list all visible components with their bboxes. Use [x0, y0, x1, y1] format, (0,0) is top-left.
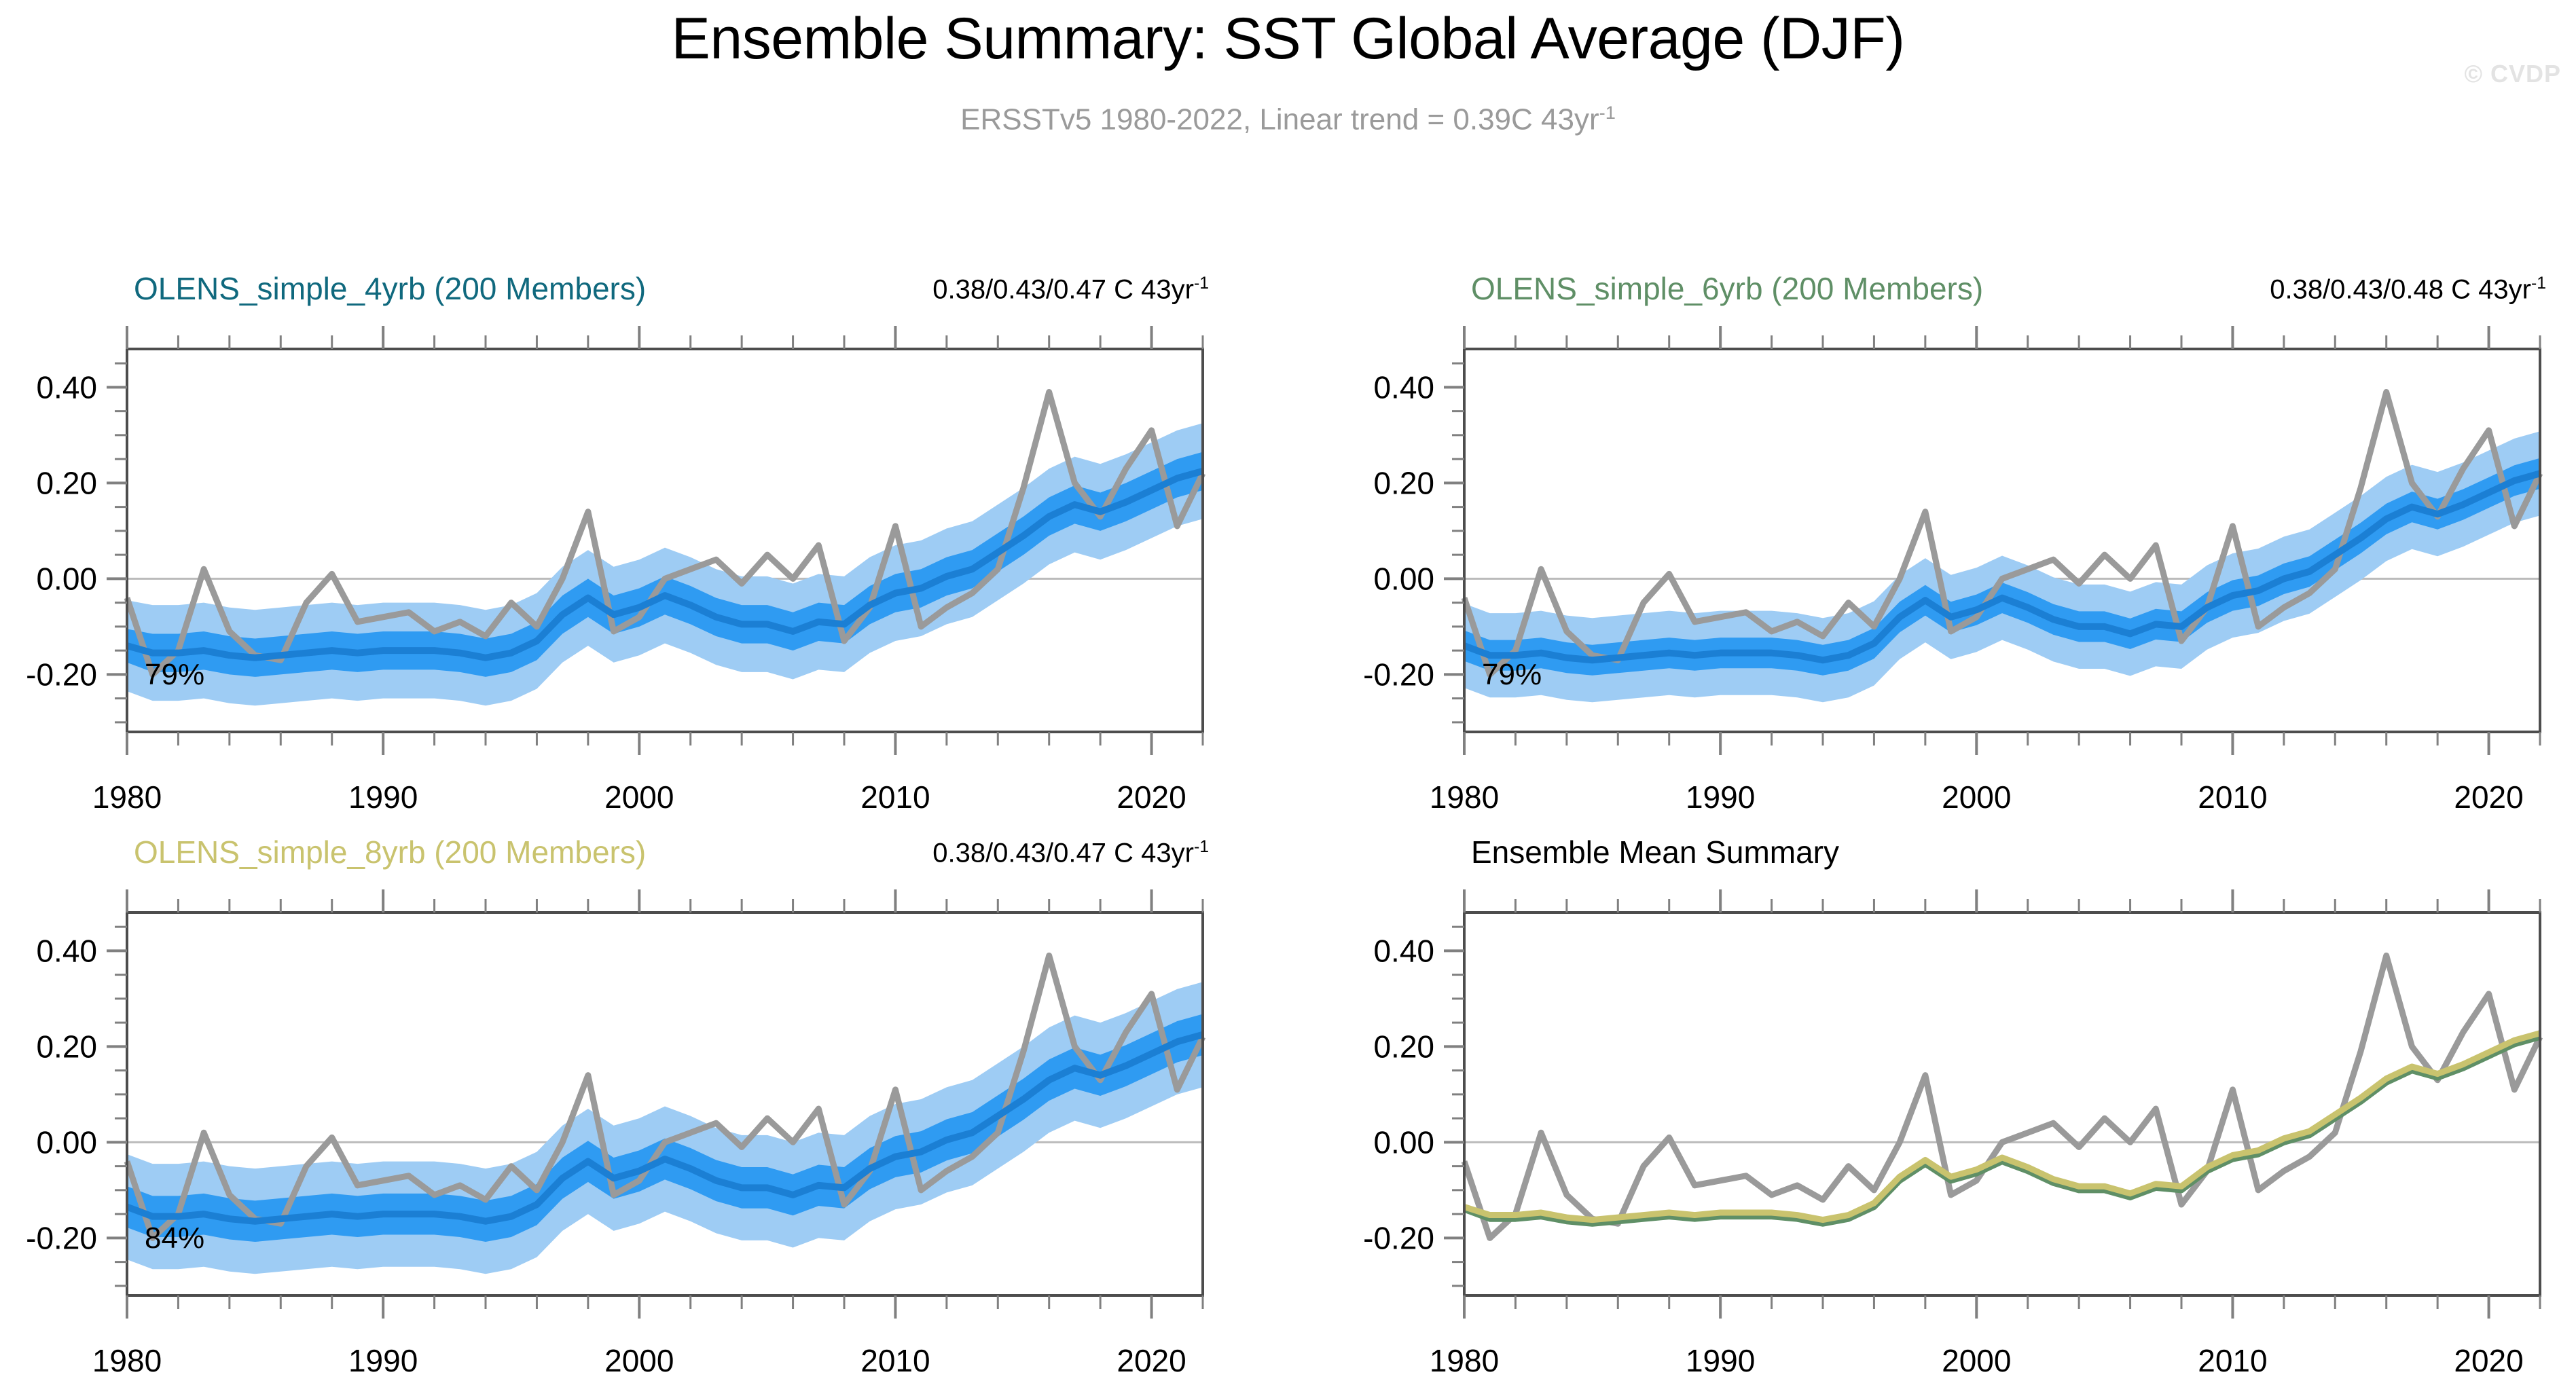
y-tick-label: 0.00	[1373, 561, 1434, 596]
x-tick-label: 2000	[604, 779, 674, 815]
plot-area-olens-4yrb: 0.400.200.00-0.201980199020002010202079%	[0, 0, 2576, 1381]
x-tick-label: 2020	[2454, 779, 2523, 815]
y-tick-label: 0.40	[36, 933, 97, 968]
x-tick-label: 1990	[1686, 1343, 1755, 1378]
panel-olens-4yrb: OLENS_simple_4yrb (200 Members)0.38/0.43…	[0, 0, 2576, 1381]
y-tick-label: 0.00	[36, 1124, 97, 1160]
plot-area-ensemble-mean-summary: 0.400.200.00-0.2019801990200020102020	[0, 0, 2576, 1381]
observation-line	[1464, 955, 2540, 1238]
percent-within-range-label: 84%	[145, 1221, 204, 1255]
band-5-95-olens-8yrb	[127, 982, 1203, 1274]
band-5-95-olens-6yrb	[1464, 431, 2540, 702]
x-tick-label: 1990	[1686, 779, 1755, 815]
x-tick-label: 2020	[2454, 1343, 2523, 1378]
y-tick-label: 0.00	[1373, 1124, 1434, 1160]
y-tick-label: -0.20	[26, 657, 97, 692]
observation-line	[127, 955, 1203, 1238]
page-title: Ensemble Summary: SST Global Average (DJ…	[0, 5, 2576, 73]
plot-area-olens-6yrb: 0.400.200.00-0.201980199020002010202079%	[0, 0, 2576, 1381]
panel-trend-olens-6yrb: 0.38/0.43/0.48 C 43yr-1	[0, 274, 2546, 305]
panel-title-olens-4yrb: OLENS_simple_4yrb (200 Members)	[134, 270, 646, 307]
y-tick-label: 0.20	[1373, 1029, 1434, 1064]
band-25-75-olens-6yrb	[1464, 458, 2540, 676]
chart-page: Ensemble Summary: SST Global Average (DJ…	[0, 0, 2576, 1381]
plot-frame	[1464, 913, 2540, 1295]
x-tick-label: 2010	[2198, 779, 2267, 815]
plot-frame	[127, 913, 1203, 1295]
x-tick-label: 2010	[860, 1343, 930, 1378]
observation-line	[1464, 392, 2540, 674]
panel-trend-olens-4yrb: 0.38/0.43/0.47 C 43yr-1	[0, 274, 1209, 305]
x-tick-label: 2020	[1117, 1343, 1186, 1378]
x-tick-label: 2020	[1117, 779, 1186, 815]
page-subtitle-text: ERSSTv5 1980-2022, Linear trend = 0.39C …	[960, 103, 1599, 136]
y-tick-label: 0.20	[1373, 465, 1434, 500]
y-tick-label: -0.20	[1363, 657, 1434, 692]
percent-within-range-label: 79%	[1482, 658, 1542, 691]
x-tick-label: 1980	[1430, 1343, 1499, 1378]
x-tick-label: 1990	[348, 1343, 418, 1378]
percent-within-range-label: 79%	[145, 658, 204, 691]
panel-title-olens-6yrb: OLENS_simple_6yrb (200 Members)	[1471, 270, 1983, 307]
observation-line	[127, 392, 1203, 674]
x-tick-label: 2000	[1942, 779, 2011, 815]
ensemble-mean-line	[127, 471, 1203, 658]
ensemble-mean-line	[127, 1035, 1203, 1221]
y-tick-label: 0.00	[36, 561, 97, 596]
panel-olens-6yrb: OLENS_simple_6yrb (200 Members)0.38/0.43…	[0, 0, 2576, 1381]
mean-line-olens_simple_6yrb	[1464, 1037, 2540, 1223]
band-5-95-olens-4yrb	[127, 423, 1203, 705]
ensemble-mean-line	[1464, 473, 2540, 660]
band-25-75-olens-4yrb	[127, 452, 1203, 677]
mean-line-olens_simple_4yrb	[1464, 1035, 2540, 1221]
cvdp-watermark: © CVDP	[2464, 60, 2561, 88]
plot-frame	[127, 349, 1203, 732]
y-tick-label: 0.40	[1373, 369, 1434, 405]
y-tick-label: 0.40	[1373, 933, 1434, 968]
x-tick-label: 1990	[348, 779, 418, 815]
x-tick-label: 2010	[860, 779, 930, 815]
band-25-75-olens-8yrb	[127, 1014, 1203, 1242]
x-tick-label: 1980	[92, 1343, 162, 1378]
panel-title-olens-8yrb: OLENS_simple_8yrb (200 Members)	[134, 834, 646, 870]
panel-title-ensemble-mean-summary: Ensemble Mean Summary	[1471, 834, 1839, 870]
panel-ensemble-mean-summary: Ensemble Mean Summary0.400.200.00-0.2019…	[0, 0, 2576, 1381]
plot-area-olens-8yrb: 0.400.200.00-0.201980199020002010202084%	[0, 0, 2576, 1381]
x-tick-label: 2000	[604, 1343, 674, 1378]
y-tick-label: -0.20	[1363, 1220, 1434, 1255]
x-tick-label: 2000	[1942, 1343, 2011, 1378]
panel-olens-8yrb: OLENS_simple_8yrb (200 Members)0.38/0.43…	[0, 0, 2576, 1381]
mean-line-olens_simple_8yrb	[1464, 1033, 2540, 1220]
y-tick-label: 0.20	[36, 465, 97, 500]
y-tick-label: -0.20	[26, 1220, 97, 1255]
plot-frame	[1464, 349, 2540, 732]
x-tick-label: 1980	[92, 779, 162, 815]
page-subtitle: ERSSTv5 1980-2022, Linear trend = 0.39C …	[0, 102, 2576, 137]
y-tick-label: 0.40	[36, 369, 97, 405]
page-subtitle-exponent: -1	[1599, 102, 1616, 123]
y-tick-label: 0.20	[36, 1029, 97, 1064]
x-tick-label: 2010	[2198, 1343, 2267, 1378]
panel-trend-olens-8yrb: 0.38/0.43/0.47 C 43yr-1	[0, 838, 1209, 868]
x-tick-label: 1980	[1430, 779, 1499, 815]
